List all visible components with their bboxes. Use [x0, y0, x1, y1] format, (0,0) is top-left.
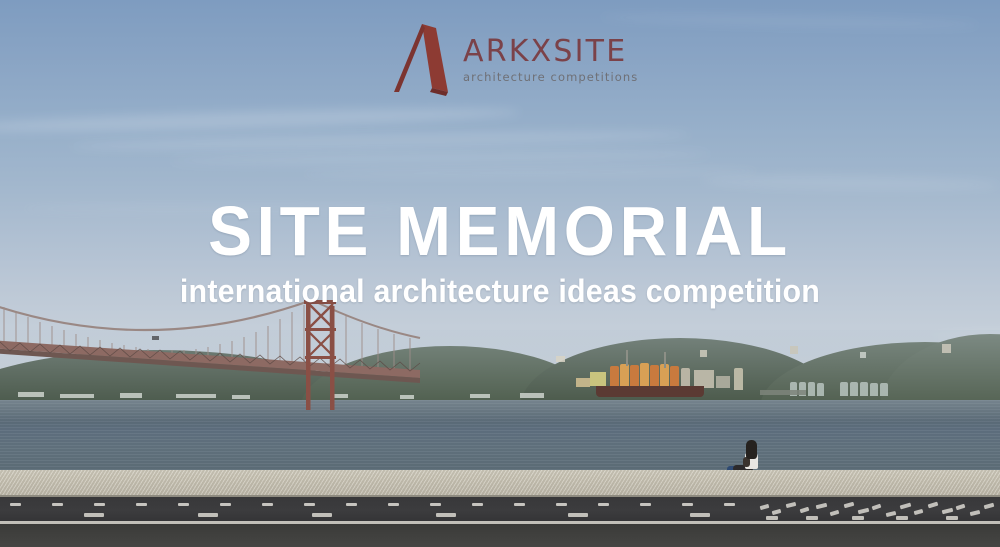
poster-headline: SITE MEMORIAL: [30, 196, 970, 266]
logo-wordmark: ARKXSITE architecture competitions: [463, 37, 638, 84]
text-overlay: ARKXSITE architecture competitions SITE …: [0, 0, 1000, 547]
arkxsite-logo[interactable]: ARKXSITE architecture competitions: [392, 22, 638, 98]
poster-subheadline: international architecture ideas competi…: [25, 275, 975, 307]
poster-canvas: ARKXSITE architecture competitions SITE …: [0, 0, 1000, 547]
logo-tagline: architecture competitions: [463, 72, 638, 84]
arkxsite-a-mark: [392, 22, 454, 98]
logo-name: ARKXSITE: [463, 37, 638, 67]
